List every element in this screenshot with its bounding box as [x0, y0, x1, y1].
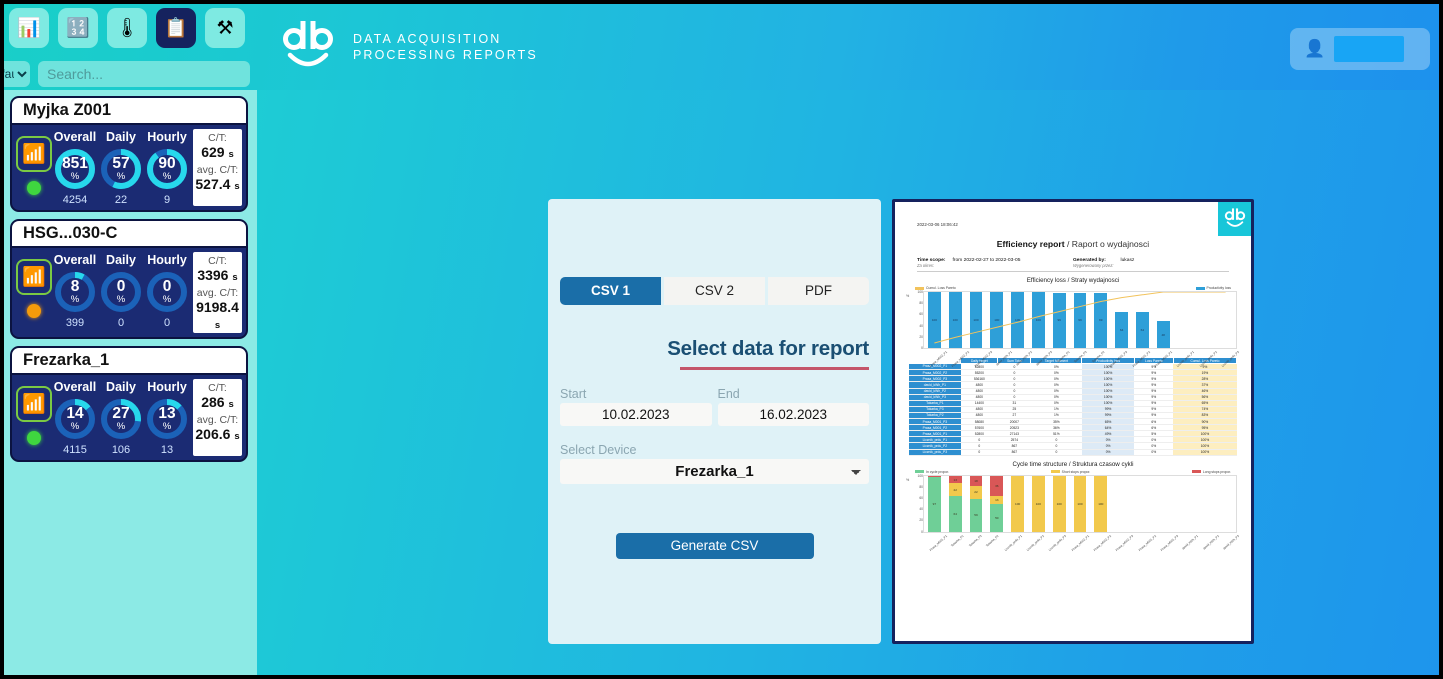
chart1-legend: Cumul. Loss Pareto Productivity loss [909, 286, 1237, 290]
x-tick-label: Licznik_prdu_P1 [1004, 534, 1023, 552]
x-tick-label: Prasa_M002_P3 [1115, 534, 1134, 552]
metric-unit: % [163, 172, 171, 181]
app-window: 📊 🔢 🌡 📋 ⚒ Default [4, 4, 1439, 675]
chart2-stacked-bar: 100 [1011, 476, 1024, 532]
metric-unit: % [163, 422, 171, 431]
chart2-stacked-bar [1136, 476, 1149, 532]
chart2-x-labels: Prasa_M001_P1Tokarka_P1Tokarka_P3Tokarka… [923, 534, 1237, 538]
chart2-stacked-bar: 361350 [990, 476, 1003, 532]
tools-icon: ⚒ [216, 19, 233, 38]
avg-ct-label: avg. C/T: [194, 287, 241, 299]
user-name-field [1334, 36, 1404, 62]
counters-icon: 🔢 [66, 19, 90, 38]
x-tick-label: Prasa_M001_P1 [929, 534, 948, 552]
chart1-plot-area: % 020406080100 1001001001001001009999996… [923, 291, 1237, 349]
gauge-hourly: 90 % [144, 146, 190, 192]
start-date-label: Start [560, 387, 712, 401]
toolbar-temperature-button[interactable]: 🌡 [107, 8, 147, 48]
avg-ct-value: 206.6 [195, 426, 230, 442]
metric-count: 22 [98, 194, 144, 206]
chart2-segment: 97 [928, 477, 941, 531]
ct-unit: s [228, 149, 233, 160]
y-tick: 60 [919, 312, 923, 316]
brand-line-2: PROCESSING REPORTS [353, 47, 538, 63]
dlb-logo-icon [281, 21, 335, 73]
metric-label: Daily [98, 130, 144, 144]
metric-hourly: Hourly 0 % 0 [144, 252, 190, 333]
tab-csv-1[interactable]: CSV 1 [560, 277, 661, 305]
gauge-daily: 57 % [98, 146, 144, 192]
efficiency-loss-chart-title: Efficiency loss / Straty wydajnosci [895, 277, 1251, 284]
wifi-icon: 📶 [16, 136, 52, 172]
cycle-time-box: C/T: 286 s avg. C/T: 206.6 s [193, 379, 242, 456]
chart2-stacked-bar [1157, 476, 1170, 532]
report-metadata: Time scope: Za okres: from 2022-02-27 to… [917, 258, 1229, 272]
ct-unit: s [232, 272, 237, 283]
search-row: Default [4, 61, 250, 87]
chart2-segment: 100 [1074, 476, 1087, 532]
table-cell: 0 [961, 449, 998, 455]
y-tick: 100 [917, 290, 923, 294]
device-card-myjka-z001[interactable]: Myjka Z001 📶 Overall [10, 96, 248, 212]
chart2-segment: 100 [1094, 476, 1107, 532]
chart2-segment: 22 [949, 483, 962, 495]
metric-daily: Daily 57 % 22 [98, 129, 144, 206]
generated-by-sublabel: Wygenerowany przez: [1073, 263, 1114, 268]
metric-label: Hourly [144, 253, 190, 267]
device-status-column: 📶 [16, 252, 52, 333]
chart2-ylabel: % [906, 478, 909, 482]
chart2-stacked-bar: 97 [928, 476, 941, 532]
y-tick: 20 [919, 335, 923, 339]
report-timestamp: 2022-03-06 18:06:42 [917, 222, 958, 227]
chart2-stacked-bar: 132264 [949, 476, 962, 532]
status-led [27, 181, 41, 195]
tab-csv-2[interactable]: CSV 2 [664, 277, 765, 305]
chart2-stacked-bar: 100 [1094, 476, 1107, 532]
report-preview-panel[interactable]: 2022-03-06 18:06:42 Efficiency report / … [892, 199, 1254, 644]
table-cell: 867 [998, 449, 1031, 455]
y-tick: 40 [919, 507, 923, 511]
x-tick-label: Tokarka_P2 [985, 534, 999, 548]
chart2-stacked-bar: 100 [1032, 476, 1045, 532]
gauge-daily: 0 % [98, 269, 144, 315]
x-tick-label: Tokarka_P3 [968, 534, 982, 548]
metric-unit: % [71, 422, 79, 431]
avg-ct-label: avg. C/T: [194, 164, 241, 176]
legend-productivity-loss: Productivity loss [1196, 286, 1232, 290]
metric-daily: Daily 27 % 106 [98, 379, 144, 456]
report-data-table: Daily targetSum TotalTarget fulfilmentPr… [909, 357, 1237, 456]
gauge-daily: 27 % [98, 396, 144, 442]
y-tick: 20 [919, 518, 923, 522]
metric-count: 106 [98, 444, 144, 456]
report-logo-icon [1218, 202, 1251, 236]
temperature-icon: 🌡 [115, 19, 139, 38]
table-cell: 0 [1031, 449, 1082, 455]
device-sidebar: Myjka Z001 📶 Overall [4, 90, 257, 675]
x-tick-label: david_kWh_P1 [1182, 534, 1200, 550]
tab-pdf[interactable]: PDF [768, 277, 869, 305]
table-body: Prasa_M002_P15280000%100%9%9%Prasa_M002_… [909, 364, 1237, 455]
metric-count: 0 [98, 317, 144, 329]
x-tick-label: Prasa_M001_P2 [1137, 534, 1156, 552]
device-select[interactable]: Frezarka_1 [560, 459, 869, 484]
table-cell: 100% [1173, 449, 1236, 455]
chart2-plot-area: % 020406080100 9713226418225936135010010… [923, 475, 1237, 533]
start-date-input[interactable] [560, 403, 712, 426]
avg-ct-unit: s [215, 320, 220, 331]
metric-hourly: Hourly 90 % 9 [144, 129, 190, 206]
metric-unit: % [117, 295, 125, 304]
brand-logo-block: DATA ACQUISITION PROCESSING REPORTS [281, 21, 538, 73]
ct-value: 286 [201, 394, 224, 410]
generated-by-value: lukasz [1121, 258, 1135, 268]
device-metrics: Overall 851 % 4254 [52, 129, 190, 206]
device-status-column: 📶 [16, 379, 52, 456]
metric-count: 9 [144, 194, 190, 206]
chart1-pareto-line [924, 292, 1236, 348]
report-form-panel: CSV 1 CSV 2 PDF Select data for report S… [548, 199, 881, 644]
cycle-time-chart: In cycle propor. Short stops propor. Lon… [909, 470, 1237, 538]
chart2-segment: 18 [970, 476, 983, 486]
metric-value: 0 [163, 280, 172, 295]
report-title-pl: / Raport o wydajnosci [1067, 239, 1149, 249]
gauge-overall: 8 % [52, 269, 98, 315]
chart2-segment: 13 [990, 496, 1003, 503]
chart2-segment: 22 [970, 486, 983, 498]
end-date-input[interactable] [718, 403, 870, 426]
avg-ct-value: 527.4 [195, 176, 230, 192]
chart2-segment: 100 [1011, 476, 1024, 532]
efficiency-loss-chart: Cumul. Loss Pareto Productivity loss % 0… [909, 286, 1237, 354]
gauge-overall: 14 % [52, 396, 98, 442]
chart2-segment: 100 [1032, 476, 1045, 532]
time-scope-value: from 2022-02-27 to 2022-03-05 [952, 258, 1020, 268]
report-panels: CSV 1 CSV 2 PDF Select data for report S… [548, 199, 1254, 644]
avg-ct-label: avg. C/T: [194, 414, 241, 426]
metric-count: 0 [144, 317, 190, 329]
chart2-bars: 97132264182259361350100100100100100 [924, 476, 1236, 532]
chart2-stacked-bar [1115, 476, 1128, 532]
avg-ct-unit: s [234, 181, 239, 192]
y-tick: 0 [921, 530, 923, 534]
wifi-icon: 📶 [16, 386, 52, 422]
chart2-stacked-bar: 100 [1074, 476, 1087, 532]
user-icon: 👤 [1304, 39, 1325, 59]
chart2-stacked-bar [1219, 476, 1232, 532]
x-tick-label: Prasa_M001_P3 [1160, 534, 1179, 552]
metric-value: 851 [62, 157, 88, 172]
device-status-column: 📶 [16, 129, 52, 206]
report-title-en: Efficiency report [997, 239, 1065, 249]
end-date-label: End [718, 387, 870, 401]
ct-label: C/T: [194, 132, 241, 144]
ct-unit: s [228, 399, 233, 410]
metric-value: 14 [66, 407, 83, 422]
device-card-title: HSG...030-C [12, 221, 246, 248]
charts-icon: 📊 [17, 19, 41, 38]
y-tick: 80 [919, 301, 923, 305]
brand-text: DATA ACQUISITION PROCESSING REPORTS [353, 31, 538, 63]
metric-value: 8 [71, 280, 80, 295]
user-account-box[interactable]: 👤 [1290, 28, 1430, 70]
metric-label: Daily [98, 380, 144, 394]
search-input[interactable] [38, 61, 250, 87]
select-device-label: Select Device [560, 443, 869, 457]
metric-label: Overall [52, 253, 98, 267]
y-tick: 40 [919, 324, 923, 328]
reports-clipboard-icon: 📋 [164, 19, 188, 38]
metric-label: Overall [52, 380, 98, 394]
table-cell: Licznik_prdu_P3 [909, 449, 961, 455]
generated-by-block: Generated by: Wygenerowany przez: lukasz [1073, 258, 1229, 268]
metric-value: 13 [158, 407, 175, 422]
legend-short-stops: Short stops propor. [1051, 470, 1091, 474]
chart2-stacked-bar: 100 [1053, 476, 1066, 532]
legend-long-stops: Long stops propor. [1192, 470, 1231, 474]
metric-label: Daily [98, 253, 144, 267]
status-led [27, 431, 41, 445]
report-title: Efficiency report / Raport o wydajnosci [895, 239, 1251, 249]
chart2-segment: 59 [970, 499, 983, 532]
device-metrics: Overall 8 % 399 [52, 252, 190, 333]
chart2-segment: 13 [949, 476, 962, 483]
ct-label: C/T: [194, 255, 241, 267]
chart1-ylabel: % [906, 294, 909, 298]
metric-daily: Daily 0 % 0 [98, 252, 144, 333]
metric-overall: Overall 8 % 399 [52, 252, 98, 333]
x-tick-label: Licznik_prdu_P3 [1048, 534, 1067, 552]
device-metrics: Overall 14 % 4115 [52, 379, 190, 456]
y-tick: 0 [921, 346, 923, 350]
cycle-time-box: C/T: 629 s avg. C/T: 527.4 s [193, 129, 242, 206]
cycle-time-chart-title: Cycle time structure / Struktura czasow … [895, 461, 1251, 468]
chart2-segment: 36 [990, 476, 1003, 496]
chart2-stacked-bar: 182259 [970, 476, 983, 532]
metric-unit: % [71, 295, 79, 304]
form-title: Select data for report [560, 337, 869, 361]
metric-count: 4115 [52, 444, 98, 456]
x-tick-label: Licznik_prdu_P2 [1026, 534, 1045, 552]
toolbar-reports-button[interactable]: 📋 [156, 8, 196, 48]
avg-ct-unit: s [234, 431, 239, 442]
chart1-x-labels: Prasa_M002_P1Prasa_M002_P2Prasa_M002_P3d… [923, 350, 1237, 354]
metric-unit: % [163, 295, 171, 304]
brand-line-1: DATA ACQUISITION [353, 31, 538, 47]
gauge-hourly: 13 % [144, 396, 190, 442]
chart2-stacked-bar [1198, 476, 1211, 532]
device-card-frezarka-1[interactable]: Frezarka_1 📶 Overall [10, 346, 248, 462]
metric-value: 0 [117, 280, 126, 295]
x-tick-label: Tokarka_P1 [950, 534, 964, 548]
time-scope-sublabel: Za okres: [917, 263, 945, 268]
metric-value: 90 [158, 157, 175, 172]
metric-hourly: Hourly 13 % 13 [144, 379, 190, 456]
chart2-segment: 64 [949, 496, 962, 532]
y-tick: 100 [917, 474, 923, 478]
metric-count: 399 [52, 317, 98, 329]
ct-value: 3396 [197, 267, 228, 283]
device-card-hsg-030-c[interactable]: HSG...030-C 📶 Overall [10, 219, 248, 339]
metric-label: Hourly [144, 380, 190, 394]
gauge-overall: 851 % [52, 146, 98, 192]
generate-csv-button[interactable]: Generate CSV [616, 533, 814, 559]
gauge-hourly: 0 % [144, 269, 190, 315]
x-tick-label: Prasa_M002_P2 [1093, 534, 1112, 552]
report-type-tabs: CSV 1 CSV 2 PDF [560, 277, 869, 305]
chart2-segment: 100 [1053, 476, 1066, 532]
sort-select[interactable]: Default [4, 61, 30, 87]
chart2-segment: 50 [990, 504, 1003, 532]
main-content-area: CSV 1 CSV 2 PDF Select data for report S… [262, 94, 1434, 669]
metric-overall: Overall 851 % 4254 [52, 129, 98, 206]
status-led [27, 304, 41, 318]
device-card-title: Myjka Z001 [12, 98, 246, 125]
x-tick-label: david_kWh_P3 [1222, 534, 1240, 550]
y-tick: 60 [919, 496, 923, 500]
device-card-title: Frezarka_1 [12, 348, 246, 375]
ct-label: C/T: [194, 382, 241, 394]
chart2-y-axis: 020406080100 [912, 476, 924, 532]
module-toolbar: 📊 🔢 🌡 📋 ⚒ [9, 8, 245, 48]
toolbar-counters-button[interactable]: 🔢 [58, 8, 98, 48]
y-tick: 80 [919, 485, 923, 489]
metric-value: 57 [112, 157, 129, 172]
toolbar-tools-button[interactable]: ⚒ [205, 8, 245, 48]
top-header-bar: 📊 🔢 🌡 📋 ⚒ Default [4, 4, 1439, 90]
chart1-y-axis: 020406080100 [912, 292, 924, 348]
x-tick-label: david_kWh_P2 [1202, 534, 1220, 550]
chart2-legend: In cycle propor. Short stops propor. Lon… [909, 470, 1237, 474]
avg-ct-value: 9198.4 [196, 299, 239, 315]
cycle-time-box: C/T: 3396 s avg. C/T: 9198.4 s [193, 252, 242, 333]
metric-count: 4254 [52, 194, 98, 206]
metric-count: 13 [144, 444, 190, 456]
metric-unit: % [71, 172, 79, 181]
metric-unit: % [117, 422, 125, 431]
table-cell: 0% [1082, 449, 1134, 455]
metric-unit: % [117, 172, 125, 181]
x-tick-label: Prasa_M002_P1 [1070, 534, 1089, 552]
time-scope-block: Time scope: Za okres: from 2022-02-27 to… [917, 258, 1073, 268]
toolbar-charts-button[interactable]: 📊 [9, 8, 49, 48]
date-range-row: Start End [560, 370, 869, 426]
ct-value: 629 [201, 144, 224, 160]
metric-overall: Overall 14 % 4115 [52, 379, 98, 456]
metric-label: Overall [52, 130, 98, 144]
metric-value: 27 [112, 407, 129, 422]
table-cell: 0% [1134, 449, 1173, 455]
wifi-icon: 📶 [16, 259, 52, 295]
metric-label: Hourly [144, 130, 190, 144]
chart2-stacked-bar [1178, 476, 1191, 532]
table-row: Licznik_prdu_P3086700%0%100% [909, 449, 1237, 455]
